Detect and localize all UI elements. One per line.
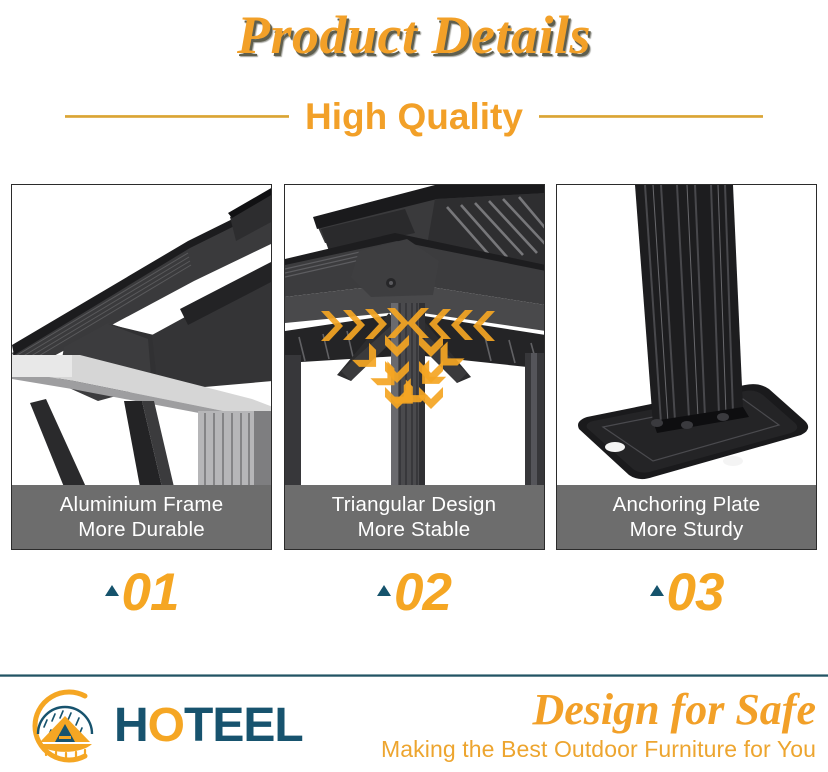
slogan-block: Design for Safe Making the Best Outdoor … xyxy=(381,686,816,764)
divider-line-right xyxy=(539,115,763,118)
brand-letter-h: H xyxy=(114,699,148,752)
step-number-row: 01 02 03 xyxy=(11,556,817,628)
footer: HOTEEL Design for Safe Making the Best O… xyxy=(0,680,828,772)
step-number-2: 02 xyxy=(284,556,545,628)
product-photo-aluminium-frame xyxy=(12,185,271,485)
header-subtitle-area: High Quality xyxy=(0,88,828,144)
footer-divider xyxy=(0,674,828,677)
product-photo-anchoring-plate xyxy=(557,185,816,485)
triangle-marker-icon xyxy=(377,585,391,596)
caption-line-2: More Stable xyxy=(358,517,471,542)
slogan-headline: Design for Safe xyxy=(381,686,816,734)
page-title: Product Details xyxy=(237,4,591,66)
feature-panel-2[interactable]: Triangular Design More Stable xyxy=(284,184,545,550)
subtitle-text: High Quality xyxy=(289,98,539,135)
brand-letters-teel: TEEL xyxy=(184,699,303,752)
caption-line-2: More Durable xyxy=(78,517,205,542)
triangle-marker-icon xyxy=(650,585,664,596)
panel-caption-1: Aluminium Frame More Durable xyxy=(12,485,271,549)
caption-line-2: More Sturdy xyxy=(630,517,744,542)
step-number-label: 03 xyxy=(667,566,724,619)
triangle-marker-icon xyxy=(105,585,119,596)
hoteel-logo-icon xyxy=(22,686,108,766)
feature-panel-1[interactable]: Aluminium Frame More Durable xyxy=(11,184,272,550)
feature-panel-3[interactable]: Anchoring Plate More Sturdy xyxy=(556,184,817,550)
slogan-tagline: Making the Best Outdoor Furniture for Yo… xyxy=(381,734,816,764)
brand-lockup[interactable]: HOTEEL xyxy=(22,686,303,766)
step-number-3: 03 xyxy=(556,556,817,628)
panel-caption-2: Triangular Design More Stable xyxy=(285,485,544,549)
caption-line-1: Triangular Design xyxy=(332,492,496,517)
brand-wordmark: HOTEEL xyxy=(114,702,303,750)
panel-caption-3: Anchoring Plate More Sturdy xyxy=(557,485,816,549)
feature-panel-row: Aluminium Frame More Durable xyxy=(11,184,817,550)
divider-line-left xyxy=(65,115,289,118)
header-title-area: Product Details xyxy=(0,2,828,68)
product-details-infographic: Product Details High Quality xyxy=(0,0,828,772)
step-number-label: 02 xyxy=(394,566,451,619)
caption-line-1: Anchoring Plate xyxy=(613,492,761,517)
brand-letter-o: O xyxy=(148,699,184,752)
step-number-1: 01 xyxy=(11,556,272,628)
product-photo-triangular-design xyxy=(285,185,544,485)
caption-line-1: Aluminium Frame xyxy=(60,492,224,517)
step-number-label: 01 xyxy=(122,566,179,619)
